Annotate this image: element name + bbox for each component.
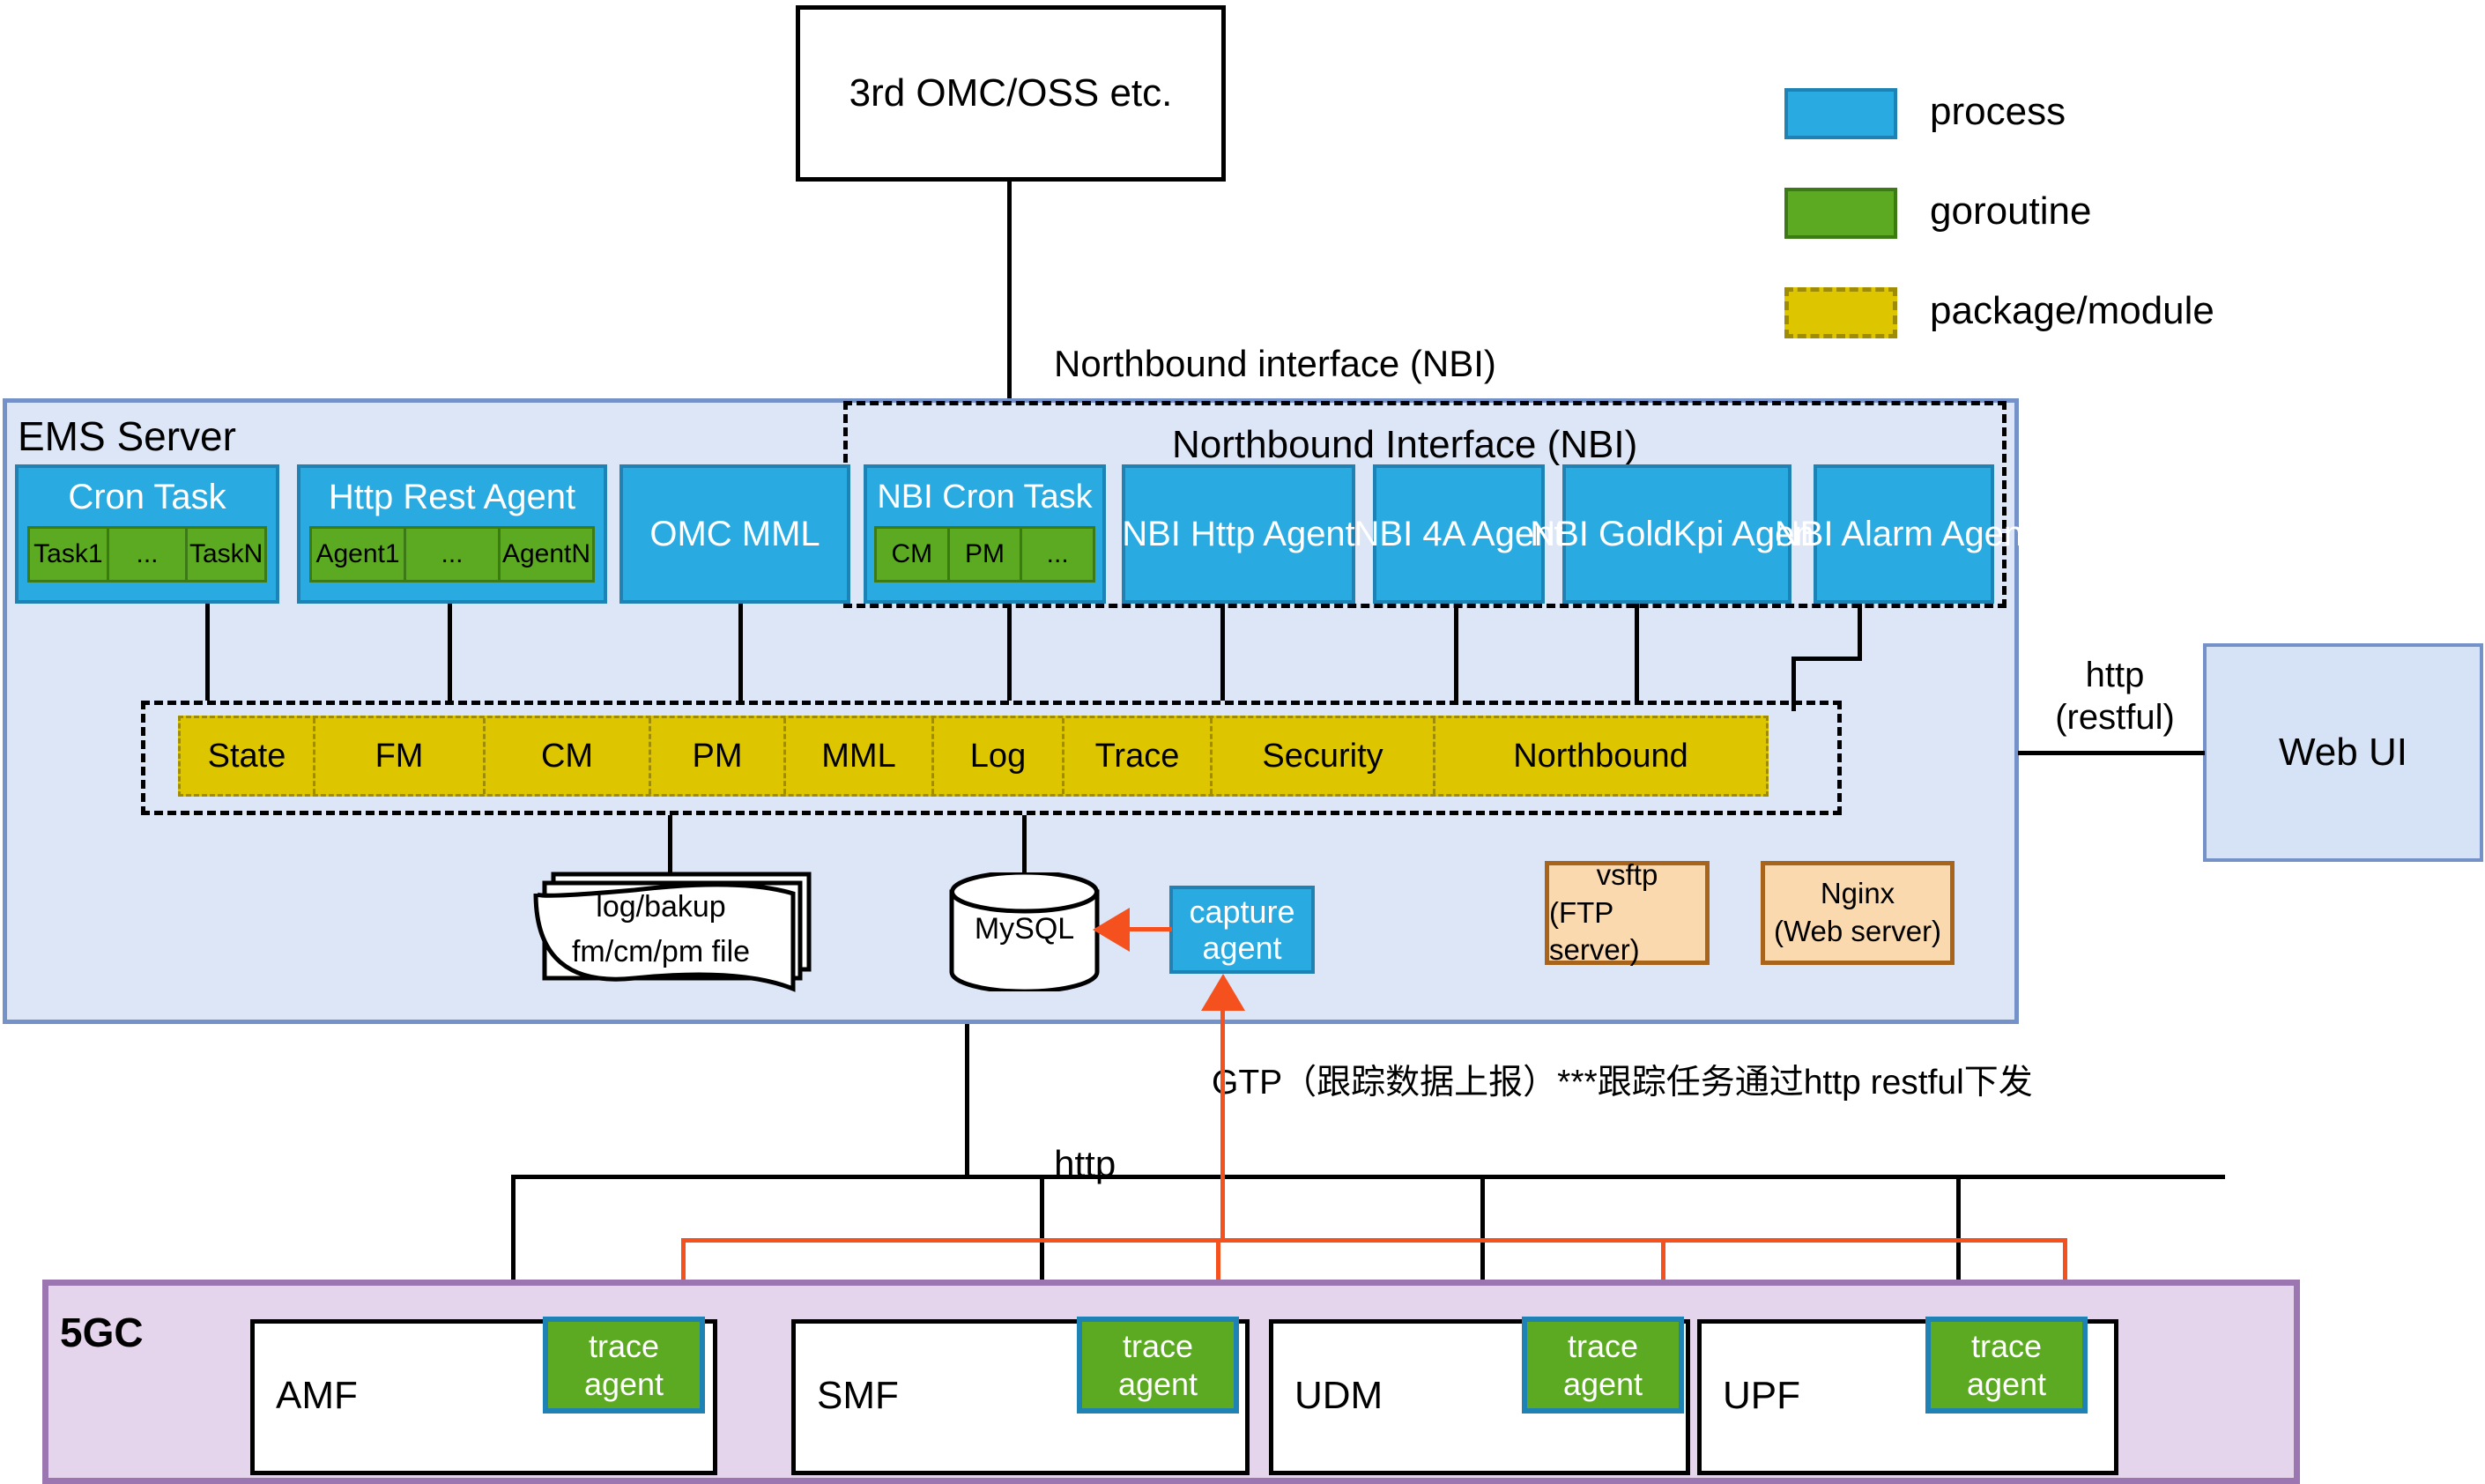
connector-http-rest-agent-drop (448, 604, 452, 701)
process-box-nbi-4a-agent[interactable]: NBI 4A Agent (1373, 464, 1545, 604)
legend-item-package: package/module (1784, 286, 2313, 340)
legend-label-package: package/module (1930, 287, 2214, 335)
legend: process goroutine package/module (1784, 86, 2313, 329)
service-nginx-line1: Nginx (1821, 875, 1895, 913)
gtp-trunk-to-capture-agent (1220, 1000, 1225, 1243)
connector-nbi-alarm-agent-drop (1858, 604, 1862, 661)
external-system-box[interactable]: 3rd OMC/OSS etc. (796, 5, 1226, 182)
goroutine-cm[interactable]: CM (874, 526, 950, 582)
process-title-nbi-alarm-agent: NBI Alarm Agent (1775, 513, 2033, 556)
external-system-label: 3rd OMC/OSS etc. (849, 70, 1173, 117)
core-network-title: 5GC (60, 1308, 144, 1357)
core-bus-horizontal (511, 1175, 2225, 1179)
trace-agent-upf[interactable]: trace agent (1925, 1317, 2088, 1414)
process-box-omc-mml[interactable]: OMC MML (619, 464, 850, 604)
legend-item-process: process (1784, 86, 2313, 141)
legend-swatch-process (1784, 88, 1897, 139)
core-node-smf-label: SMF (817, 1372, 899, 1420)
legend-label-process: process (1930, 88, 2066, 136)
goroutine-task1[interactable]: Task1 (27, 526, 109, 582)
trace-agent-amf-line1: trace (589, 1327, 659, 1365)
module-security[interactable]: Security (1213, 718, 1435, 794)
service-vsftp-line1: vsftp (1597, 857, 1658, 894)
trace-agent-udm-line2: agent (1563, 1365, 1643, 1403)
web-ui-link-line2: (restful) (2055, 696, 2175, 738)
trace-agent-udm[interactable]: trace agent (1522, 1317, 1684, 1414)
file-store-label-line1: log/bakup (596, 885, 725, 930)
file-store-label: log/bakup fm/cm/pm file (529, 881, 793, 978)
service-vsftp-line2: (FTP server) (1549, 894, 1705, 970)
arrow-capture-to-db-shaft (1124, 927, 1172, 931)
web-ui-label: Web UI (2279, 729, 2407, 776)
connector-cron-task-drop (205, 604, 210, 701)
web-ui-link-line1: http (2086, 654, 2145, 696)
process-box-nbi-goldkpi-agent[interactable]: NBI GoldKpi Agent (1562, 464, 1791, 604)
service-box-nginx[interactable]: Nginx (Web server) (1761, 861, 1955, 965)
process-box-cron-task[interactable]: Cron Task Task1 ... TaskN (15, 464, 279, 604)
trace-agent-udm-line1: trace (1568, 1327, 1638, 1365)
capture-agent-label-line2: agent (1202, 930, 1281, 966)
process-box-nbi-cron-task[interactable]: NBI Cron Task CM PM ... (864, 464, 1106, 604)
goroutine-agent1[interactable]: Agent1 (309, 526, 406, 582)
trace-agent-smf-line1: trace (1123, 1327, 1193, 1365)
service-box-vsftp[interactable]: vsftp (FTP server) (1545, 861, 1710, 965)
process-title-nbi-cron-task: NBI Cron Task (867, 468, 1102, 526)
goroutine-taskn[interactable]: TaskN (188, 526, 267, 582)
connector-nbi-http-agent-drop (1220, 604, 1225, 701)
module-mml[interactable]: MML (786, 718, 934, 794)
connector-omc-mml-drop (738, 604, 743, 701)
goroutine-agent-ellipsis[interactable]: ... (406, 526, 501, 582)
process-title-omc-mml: OMC MML (649, 513, 820, 556)
process-box-nbi-alarm-agent[interactable]: NBI Alarm Agent (1814, 464, 1994, 604)
module-northbound[interactable]: Northbound (1435, 718, 1766, 794)
ems-server-title: EMS Server (18, 412, 236, 461)
module-trace[interactable]: Trace (1064, 718, 1213, 794)
goroutine-pm[interactable]: PM (950, 526, 1023, 582)
process-title-http-rest-agent: Http Rest Agent (300, 468, 604, 526)
legend-label-goroutine: goroutine (1930, 188, 2091, 235)
connector-oss-to-ems (1007, 182, 1012, 402)
core-node-amf-label: AMF (276, 1372, 358, 1420)
database-label: MySQL (947, 908, 1102, 952)
gtp-bus-horizontal (681, 1238, 2067, 1243)
service-nginx-line2: (Web server) (1774, 913, 1941, 951)
connector-nbi-alarm-agent-elbow (1791, 657, 1862, 661)
module-log[interactable]: Log (934, 718, 1064, 794)
file-store-label-line2: fm/cm/pm file (572, 930, 750, 975)
goroutine-agentn[interactable]: AgentN (501, 526, 595, 582)
legend-swatch-goroutine (1784, 188, 1897, 239)
web-ui-link-label: http (restful) (2027, 648, 2203, 745)
module-fm[interactable]: FM (315, 718, 486, 794)
module-bar: State FM CM PM MML Log Trace Security No… (178, 716, 1769, 797)
connector-ems-to-core-trunk (965, 1024, 969, 1178)
legend-swatch-package (1784, 287, 1897, 338)
trace-agent-amf[interactable]: trace agent (543, 1317, 705, 1414)
core-node-udm-label: UDM (1294, 1372, 1383, 1420)
web-ui-box[interactable]: Web UI (2203, 643, 2483, 862)
goroutine-task-ellipsis[interactable]: ... (109, 526, 189, 582)
legend-item-goroutine: goroutine (1784, 186, 2313, 241)
capture-agent-label-line1: capture (1189, 894, 1294, 930)
nbi-link-label-line1: Northbound interface (NBI) (1054, 341, 1496, 386)
core-node-upf-label: UPF (1723, 1372, 1800, 1420)
connector-module-to-mysql (1022, 815, 1027, 872)
gtp-trunk-arrowhead (1201, 974, 1245, 1011)
nbi-group-title: Northbound Interface (NBI) (1172, 421, 1637, 469)
trace-agent-upf-line2: agent (1967, 1365, 2046, 1403)
capture-agent-box[interactable]: capture agent (1169, 886, 1315, 974)
connector-nbi-goldkpi-agent-drop (1635, 604, 1639, 701)
module-pm[interactable]: PM (651, 718, 786, 794)
arrow-capture-to-db-head (1093, 908, 1130, 952)
process-box-http-rest-agent[interactable]: Http Rest Agent Agent1 ... AgentN (297, 464, 607, 604)
trace-agent-upf-line1: trace (1971, 1327, 2042, 1365)
module-cm[interactable]: CM (486, 718, 651, 794)
process-title-cron-task: Cron Task (19, 468, 276, 526)
process-title-nbi-http-agent: NBI Http Agent (1122, 513, 1355, 556)
connector-nbi-4a-agent-drop (1454, 604, 1458, 701)
trace-agent-amf-line2: agent (584, 1365, 664, 1403)
trace-agent-smf[interactable]: trace agent (1077, 1317, 1239, 1414)
trace-agent-smf-line2: agent (1118, 1365, 1198, 1403)
module-state[interactable]: State (181, 718, 315, 794)
gtp-note-label: GTP（跟踪数据上报）***跟踪任务通过http restful下发 (1212, 1062, 2033, 1104)
connector-nbi-cron-task-drop (1007, 604, 1012, 701)
process-box-nbi-http-agent[interactable]: NBI Http Agent (1122, 464, 1355, 604)
connector-ems-to-webui (2018, 751, 2205, 755)
goroutine-nbi-ellipsis[interactable]: ... (1022, 526, 1095, 582)
